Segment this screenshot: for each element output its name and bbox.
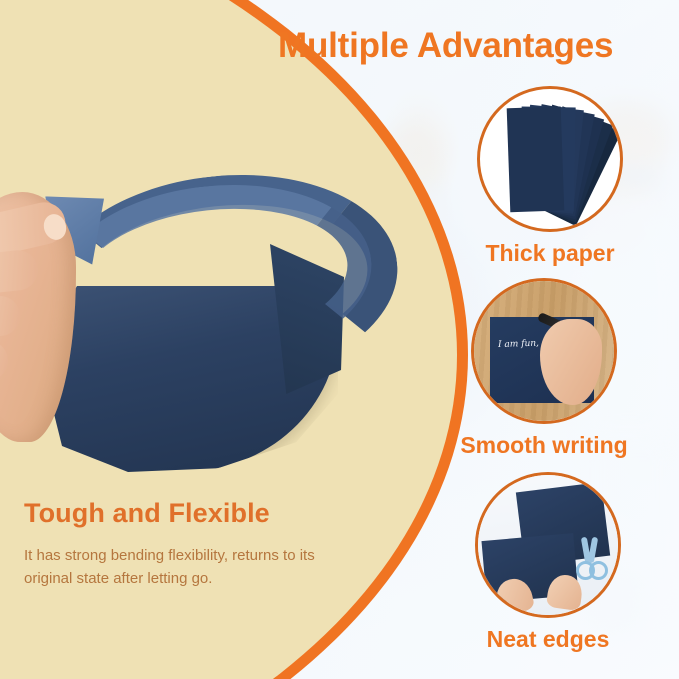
scissors-handle bbox=[589, 561, 608, 580]
left-text-block: Tough and Flexible It has strong bending… bbox=[24, 498, 354, 591]
feature-label-neat-edges: Neat edges bbox=[428, 626, 668, 653]
badge-smooth-writing: I am fun, and bbox=[471, 278, 617, 424]
stacked-sheet-front bbox=[507, 106, 565, 212]
finger bbox=[0, 337, 10, 382]
left-panel-title: Tough and Flexible bbox=[24, 498, 354, 529]
product-infographic: Multiple Advantages Tough and Flexible I… bbox=[0, 0, 679, 679]
left-panel-body: It has strong bending flexibility, retur… bbox=[24, 545, 354, 591]
feature-neat-edges: Neat edges bbox=[428, 472, 668, 653]
feature-thick-paper: Thick paper bbox=[430, 86, 670, 267]
finger bbox=[0, 248, 40, 295]
feature-smooth-writing: I am fun, and Smooth writing bbox=[424, 278, 664, 459]
feature-label-smooth-writing: Smooth writing bbox=[424, 432, 664, 459]
page-title: Multiple Advantages bbox=[278, 26, 674, 66]
badge-neat-edges bbox=[475, 472, 621, 618]
scissors-blade bbox=[588, 537, 598, 564]
badge-thick-paper bbox=[477, 86, 623, 232]
finger bbox=[0, 296, 20, 336]
feature-label-thick-paper: Thick paper bbox=[430, 240, 670, 267]
scissors-icon bbox=[574, 537, 604, 579]
hero-bending-paper-photo bbox=[0, 170, 344, 490]
